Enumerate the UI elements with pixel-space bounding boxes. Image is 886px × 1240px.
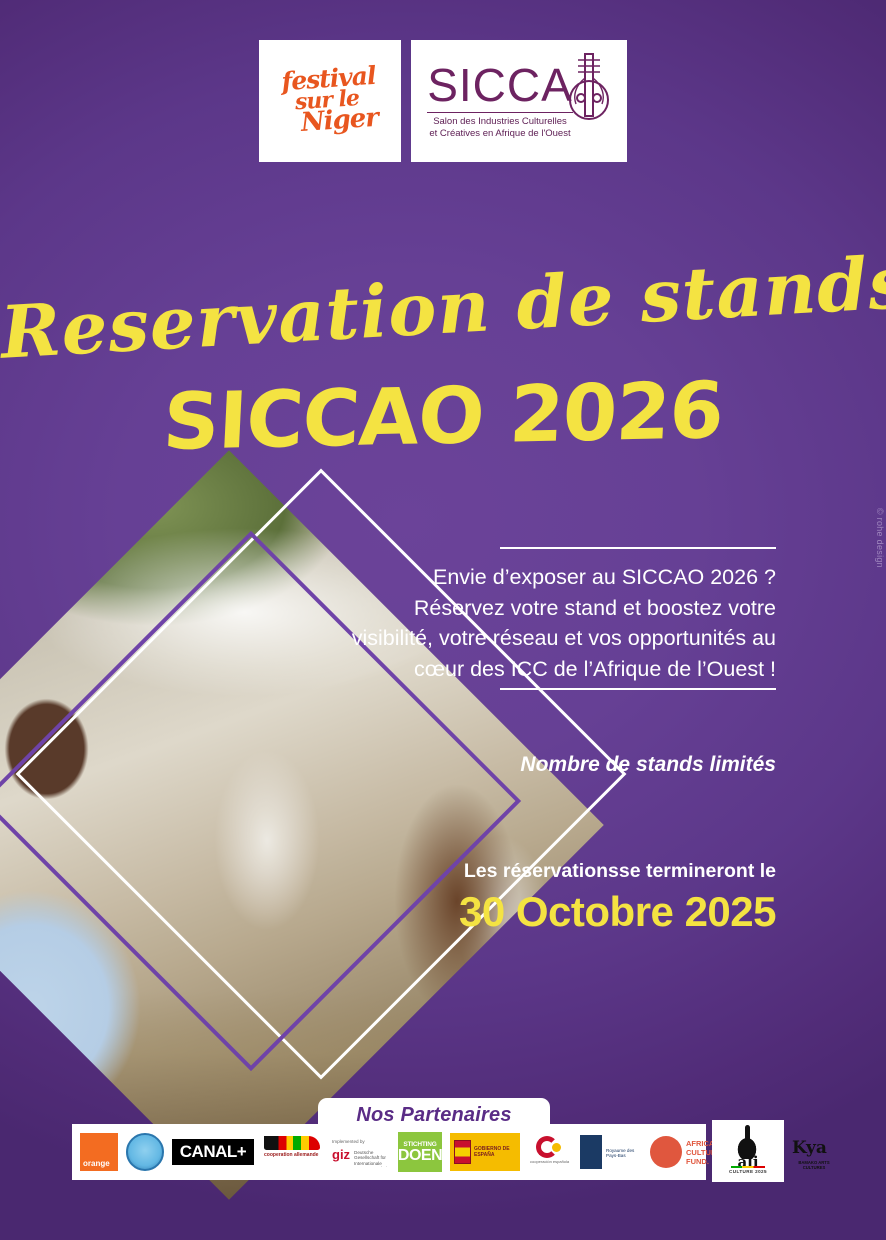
- siccao-tagline-line1: Salon des Industries Culturelles: [427, 116, 573, 128]
- poster-canvas: festival sur le Niger SICCA Salon des In…: [0, 0, 886, 1240]
- giz-logo: Implemented by giz Deutsche Gesellschaft…: [332, 1137, 390, 1167]
- emblem-logo: [126, 1133, 164, 1171]
- deadline-label: Les réservationsse termineront le: [340, 860, 776, 883]
- festival-sur-le-niger-logo: festival sur le Niger: [259, 40, 401, 162]
- royaume-des-pays-bas-logo-label: Royaume des Pays-Bas: [606, 1148, 642, 1158]
- acf-mark-icon: [650, 1136, 682, 1168]
- cooperacion-espanola-logo: cooperación española: [528, 1133, 572, 1171]
- cooperacion-dot-icon: [552, 1143, 561, 1152]
- orange-logo-label: orange: [83, 1159, 110, 1168]
- siccao-wordmark: SICCA: [427, 62, 573, 108]
- mali-culture-2025-logo-sub: CULTURE 2025: [717, 1169, 779, 1174]
- festival-logo-script: festival sur le Niger: [281, 64, 379, 138]
- siccao-tagline-line2: et Créatives en Afrique de l'Ouest: [427, 128, 573, 140]
- kora-instrument-icon: [567, 50, 611, 127]
- kya-logo-label: Kya: [792, 1138, 827, 1158]
- body-copy: Envie d’exposer au SICCAO 2026 ? Réserve…: [340, 562, 776, 684]
- giz-logo-top: Implemented by: [332, 1139, 365, 1144]
- partners-tab: Nos Partenaires: [318, 1098, 550, 1132]
- page-title-main: SICCAO 2026: [0, 369, 886, 466]
- stichting-doen-logo-label2: DOEN: [398, 1148, 442, 1164]
- canal-plus-logo: CANAL+: [172, 1139, 254, 1165]
- kya-logo-sub: BAMAKO ARTS CULTURES: [788, 1160, 840, 1170]
- canal-plus-logo-label: CANAL+: [180, 1142, 246, 1162]
- deadline-date: 30 Octobre 2025: [300, 888, 776, 936]
- orange-logo: orange: [80, 1133, 118, 1171]
- cooperacion-espanola-logo-label: cooperación española: [530, 1160, 569, 1165]
- limited-stands-note: Nombre de stands limités: [340, 753, 776, 777]
- giz-logo-side: Deutsche Gesellschaft für Internationale…: [354, 1150, 390, 1167]
- netherlands-crest-icon: [580, 1135, 602, 1169]
- header-logo-bar: festival sur le Niger SICCA Salon des In…: [0, 40, 886, 162]
- mali-flag-stripe-icon: [731, 1166, 765, 1168]
- gobierno-de-espana-logo: GOBIERNO DE ESPAÑA: [450, 1133, 520, 1171]
- gobierno-de-espana-logo-label: GOBIERNO DE ESPAÑA: [474, 1146, 520, 1158]
- page-title-script: Reservation de stands: [0, 247, 886, 368]
- kya-logo: Kya BAMAKO ARTS CULTURES: [788, 1134, 840, 1170]
- german-flag-icon: [264, 1136, 320, 1150]
- festival-logo-line3: Niger: [300, 107, 379, 136]
- divider-bottom: [500, 688, 776, 690]
- siccao-divider: [427, 112, 573, 113]
- partners-tab-label: Nos Partenaires: [356, 1104, 511, 1127]
- mali-culture-2025-logo: ali CULTURE 2025: [712, 1120, 784, 1182]
- cooperation-allemande-logo: cooperation allemande: [262, 1133, 324, 1171]
- royaume-des-pays-bas-logo: Royaume des Pays-Bas: [580, 1135, 642, 1169]
- divider-top: [500, 547, 776, 549]
- giz-logo-label: giz: [332, 1147, 350, 1162]
- partners-strip: orange CANAL+ cooperation allemande Impl…: [72, 1124, 706, 1180]
- stichting-doen-logo: STICHTING DOEN: [398, 1132, 442, 1172]
- design-credit: © rohe design: [875, 508, 885, 568]
- cooperation-allemande-logo-label: cooperation allemande: [264, 1153, 318, 1159]
- spain-coat-of-arms-icon: [454, 1140, 471, 1164]
- siccao-logo: SICCA Salon des Industries Culturelles e…: [411, 40, 627, 162]
